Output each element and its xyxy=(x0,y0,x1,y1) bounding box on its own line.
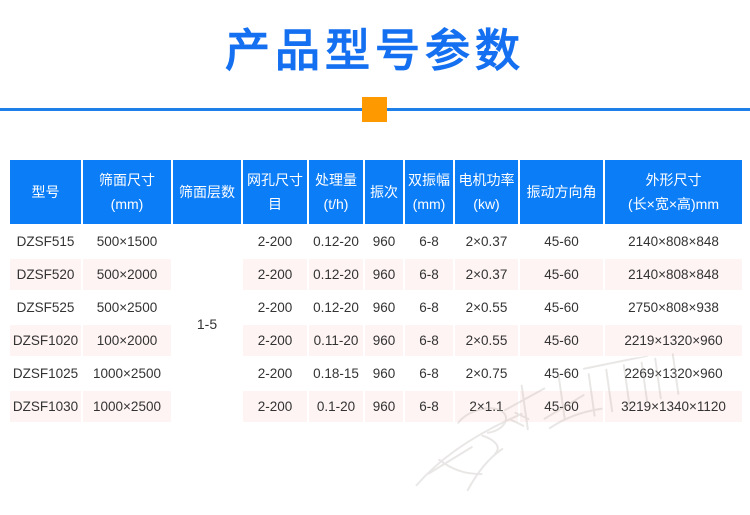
cell-frequency: 960 xyxy=(365,259,403,290)
spec-table-container: 型号 筛面尺寸 (mm) 筛面层数 网孔尺寸 目 处理量 (t/h) xyxy=(8,158,742,424)
cell-power: 2×1.1 xyxy=(455,391,518,422)
column-header-model: 型号 xyxy=(10,160,81,224)
column-header-angle: 振动方向角 xyxy=(520,160,603,224)
cell-capacity: 0.12-20 xyxy=(309,292,363,323)
cell-screen-size: 100×2000 xyxy=(83,325,171,356)
column-header-angle-line1: 振动方向角 xyxy=(527,184,597,200)
cell-dimensions: 2219×1320×960 xyxy=(605,325,742,356)
column-header-model-line1: 型号 xyxy=(32,184,60,200)
cell-angle: 45-60 xyxy=(520,325,603,356)
cell-dimensions: 3219×1340×1120 xyxy=(605,391,742,422)
column-header-mesh-line2: 目 xyxy=(245,192,305,217)
cell-screen-size: 500×2000 xyxy=(83,259,171,290)
cell-angle: 45-60 xyxy=(520,391,603,422)
column-header-capacity-line2: (t/h) xyxy=(311,192,361,217)
cell-model: DZSF1030 xyxy=(10,391,81,422)
page-title: 产品型号参数 xyxy=(0,26,750,76)
cell-screen-size: 1000×2500 xyxy=(83,358,171,389)
cell-dimensions: 2140×808×848 xyxy=(605,259,742,290)
cell-amplitude: 6-8 xyxy=(405,259,453,290)
cell-model: DZSF520 xyxy=(10,259,81,290)
cell-mesh: 2-200 xyxy=(243,259,307,290)
column-header-dimensions: 外形尺寸 (长×宽×高)mm xyxy=(605,160,742,224)
column-header-dimensions-line2: (长×宽×高)mm xyxy=(607,192,740,217)
cell-angle: 45-60 xyxy=(520,226,603,257)
section-divider xyxy=(0,94,750,124)
column-header-dimensions-line1: 外形尺寸 xyxy=(646,172,702,188)
column-header-power-line1: 电机功率 xyxy=(459,172,515,188)
cell-mesh: 2-200 xyxy=(243,292,307,323)
cell-angle: 45-60 xyxy=(520,358,603,389)
cell-capacity: 0.12-20 xyxy=(309,259,363,290)
column-header-frequency: 振次 xyxy=(365,160,403,224)
cell-mesh: 2-200 xyxy=(243,391,307,422)
column-header-screen-size-line2: (mm) xyxy=(85,192,169,217)
column-header-screen-size: 筛面尺寸 (mm) xyxy=(83,160,171,224)
column-header-frequency-line1: 振次 xyxy=(370,184,398,200)
column-header-mesh: 网孔尺寸 目 xyxy=(243,160,307,224)
column-header-amplitude: 双振幅 (mm) xyxy=(405,160,453,224)
table-row: DZSF520 500×2000 2-200 0.12-20 960 6-8 2… xyxy=(10,259,742,290)
column-header-screen-size-line1: 筛面尺寸 xyxy=(99,172,155,188)
cell-screen-size: 1000×2500 xyxy=(83,391,171,422)
cell-frequency: 960 xyxy=(365,358,403,389)
cell-mesh: 2-200 xyxy=(243,325,307,356)
cell-power: 2×0.37 xyxy=(455,259,518,290)
column-header-mesh-line1: 网孔尺寸 xyxy=(247,172,303,188)
cell-model: DZSF525 xyxy=(10,292,81,323)
column-header-power-line2: (kw) xyxy=(457,192,516,217)
cell-layers-merged: 1-5 xyxy=(173,226,241,422)
cell-screen-size: 500×2500 xyxy=(83,292,171,323)
cell-amplitude: 6-8 xyxy=(405,292,453,323)
cell-capacity: 0.1-20 xyxy=(309,391,363,422)
table-row: DZSF525 500×2500 2-200 0.12-20 960 6-8 2… xyxy=(10,292,742,323)
table-row: DZSF1020 100×2000 2-200 0.11-20 960 6-8 … xyxy=(10,325,742,356)
cell-screen-size: 500×1500 xyxy=(83,226,171,257)
title-section: 产品型号参数 xyxy=(0,0,750,76)
cell-amplitude: 6-8 xyxy=(405,226,453,257)
cell-angle: 45-60 xyxy=(520,292,603,323)
table-row: DZSF1030 1000×2500 2-200 0.1-20 960 6-8 … xyxy=(10,391,742,422)
cell-dimensions: 2750×808×938 xyxy=(605,292,742,323)
cell-power: 2×0.55 xyxy=(455,325,518,356)
cell-capacity: 0.11-20 xyxy=(309,325,363,356)
cell-frequency: 960 xyxy=(365,226,403,257)
column-header-power: 电机功率 (kw) xyxy=(455,160,518,224)
cell-capacity: 0.12-20 xyxy=(309,226,363,257)
cell-model: DZSF515 xyxy=(10,226,81,257)
cell-frequency: 960 xyxy=(365,292,403,323)
table-header-row: 型号 筛面尺寸 (mm) 筛面层数 网孔尺寸 目 处理量 (t/h) xyxy=(10,160,742,224)
cell-capacity: 0.18-15 xyxy=(309,358,363,389)
cell-frequency: 960 xyxy=(365,391,403,422)
column-header-layers: 筛面层数 xyxy=(173,160,241,224)
cell-dimensions: 2140×808×848 xyxy=(605,226,742,257)
table-row: DZSF1025 1000×2500 2-200 0.18-15 960 6-8… xyxy=(10,358,742,389)
column-header-amplitude-line2: (mm) xyxy=(407,192,451,217)
cell-amplitude: 6-8 xyxy=(405,325,453,356)
column-header-amplitude-line1: 双振幅 xyxy=(408,172,450,188)
cell-power: 2×0.75 xyxy=(455,358,518,389)
table-row: DZSF515 500×1500 1-5 2-200 0.12-20 960 6… xyxy=(10,226,742,257)
cell-amplitude: 6-8 xyxy=(405,358,453,389)
column-header-layers-line1: 筛面层数 xyxy=(179,184,235,200)
column-header-capacity-line1: 处理量 xyxy=(315,172,357,188)
cell-power: 2×0.37 xyxy=(455,226,518,257)
column-header-capacity: 处理量 (t/h) xyxy=(309,160,363,224)
cell-dimensions: 2269×1320×960 xyxy=(605,358,742,389)
cell-model: DZSF1020 xyxy=(10,325,81,356)
cell-angle: 45-60 xyxy=(520,259,603,290)
cell-mesh: 2-200 xyxy=(243,226,307,257)
cell-model: DZSF1025 xyxy=(10,358,81,389)
cell-power: 2×0.55 xyxy=(455,292,518,323)
divider-square-badge xyxy=(362,97,387,122)
cell-mesh: 2-200 xyxy=(243,358,307,389)
cell-frequency: 960 xyxy=(365,325,403,356)
product-spec-table: 型号 筛面尺寸 (mm) 筛面层数 网孔尺寸 目 处理量 (t/h) xyxy=(8,158,744,424)
cell-amplitude: 6-8 xyxy=(405,391,453,422)
